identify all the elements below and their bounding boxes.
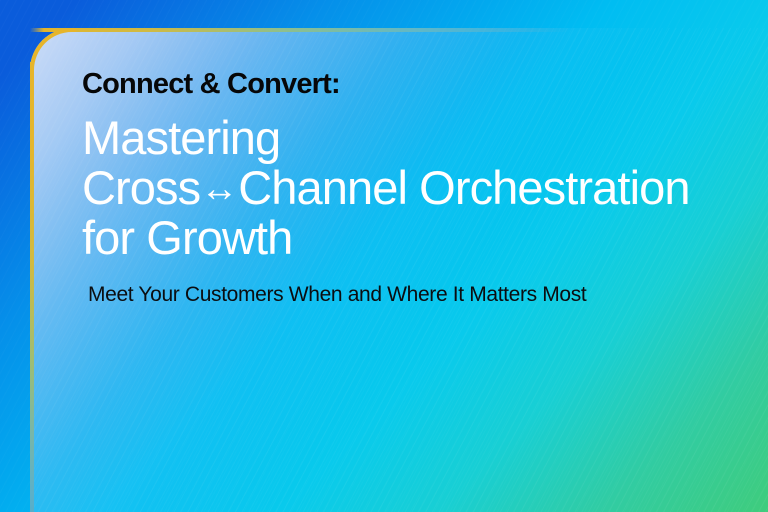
- slide-headline: Mastering Cross↔Channel Orchestration fo…: [82, 113, 732, 262]
- slide-eyebrow: Connect & Convert:: [82, 70, 742, 99]
- slide-subtitle: Meet Your Customers When and Where It Ma…: [88, 282, 742, 307]
- headline-line-1: Mastering: [82, 111, 280, 164]
- headline-line-2-before: Cross: [82, 161, 200, 214]
- left-right-arrow-icon: ↔: [200, 168, 238, 210]
- headline-line-2-after: Channel Orchestration: [238, 161, 689, 214]
- headline-line-3: for Growth: [82, 211, 292, 264]
- slide-content: Connect & Convert: Mastering Cross↔Chann…: [82, 70, 742, 308]
- presentation-slide: Connect & Convert: Mastering Cross↔Chann…: [0, 0, 768, 512]
